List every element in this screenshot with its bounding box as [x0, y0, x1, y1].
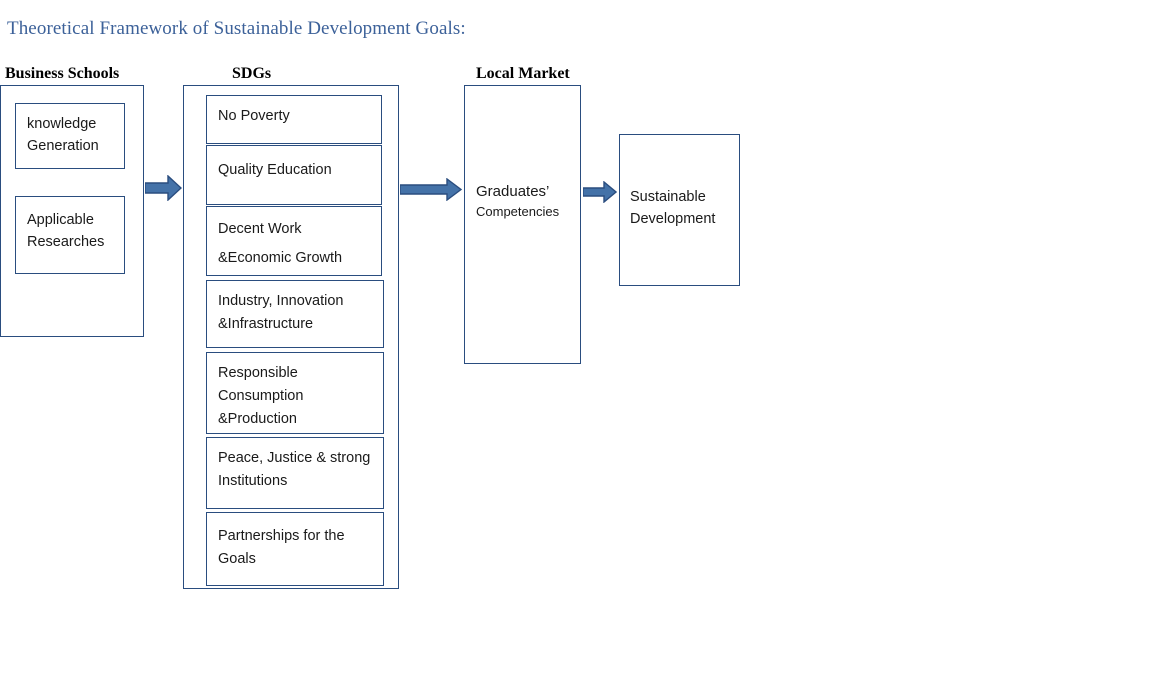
- sdg-item-responsible-consumption-production: Responsible Consumption &Production: [206, 352, 384, 434]
- arrow-business-to-sdgs: [145, 175, 182, 201]
- local-market-box: [464, 85, 581, 364]
- arrow-local-market-to-sustainable-development: [583, 181, 617, 203]
- diagram-canvas: Theoretical Framework of Sustainable Dev…: [0, 0, 1152, 685]
- sdg-item-decent-work-economic-growth: Decent Work &Economic Growth: [206, 206, 382, 276]
- business-schools-item-label: knowledge Generation: [27, 113, 99, 158]
- sdg-item-label: Quality Education: [218, 159, 332, 181]
- sdg-item-quality-education: Quality Education: [206, 145, 382, 205]
- sdg-item-label: No Poverty: [218, 105, 290, 127]
- sdg-item-label: Partnerships for the Goals: [218, 525, 345, 571]
- sdg-item-label: Responsible Consumption &Production: [218, 362, 303, 432]
- business-schools-item-knowledge-generation: knowledge Generation: [15, 103, 125, 169]
- sustainable-development-label: Sustainable Development: [630, 186, 715, 231]
- sdg-item-partnerships-for-the-goals: Partnerships for the Goals: [206, 512, 384, 586]
- sdg-item-no-poverty: No Poverty: [206, 95, 382, 144]
- sdg-item-industry-innovation-infrastructure: Industry, Innovation &Infrastructure: [206, 280, 384, 348]
- column-heading-sdgs: SDGs: [232, 65, 271, 83]
- column-heading-local-market: Local Market: [476, 65, 570, 83]
- business-schools-item-applicable-researches: Applicable Researches: [15, 196, 125, 274]
- page-title: Theoretical Framework of Sustainable Dev…: [7, 18, 466, 40]
- local-market-label-competencies: Competencies: [476, 204, 559, 220]
- column-heading-business-schools: Business Schools: [5, 65, 119, 83]
- sdg-item-peace-justice-strong-institutions: Peace, Justice & strong Institutions: [206, 437, 384, 509]
- local-market-label-graduates: Graduates’: [476, 183, 549, 201]
- sdg-item-label: Industry, Innovation &Infrastructure: [218, 290, 343, 336]
- arrow-sdgs-to-local-market: [400, 178, 462, 201]
- sdg-item-label: Decent Work &Economic Growth: [218, 215, 342, 273]
- business-schools-item-label: Applicable Researches: [27, 209, 104, 254]
- sdg-item-label: Peace, Justice & strong Institutions: [218, 447, 370, 493]
